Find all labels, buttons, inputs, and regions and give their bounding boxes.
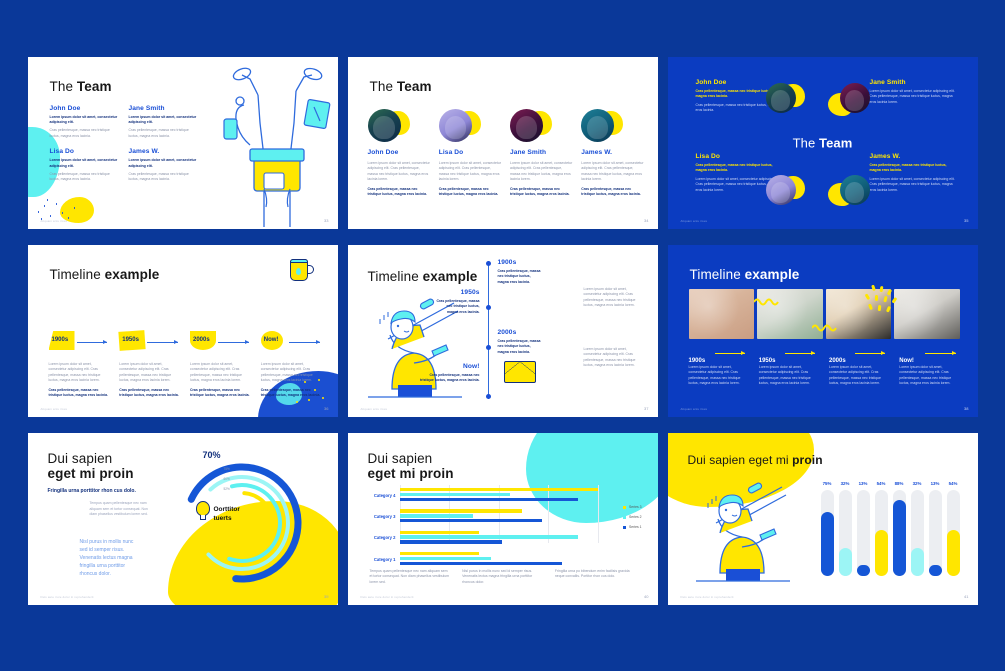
timeline-year: 1950s [759,358,776,364]
legend-swatch [623,506,626,509]
slide-title: Dui sapieneget mi proin [48,451,134,481]
timeline-step: 1950s Lorem ipsum dolor sit amet, consec… [119,331,180,399]
legend-item: Series 2 [623,515,641,519]
timeline-marker: Now! [899,349,959,359]
timeline-step: Now! Lorem ipsum dolor sit amet, consect… [261,331,322,399]
yellow-sparkle-burst-icon [864,285,900,319]
member-tagline: Cras pellentesque, massa nec tristique l… [581,187,643,198]
chart-row: Category 1 [370,552,598,566]
avatar-profile-woman-icon [840,83,870,113]
arrow-right-icon [289,342,320,343]
arrow-right-icon [925,353,955,354]
avatar [840,175,870,205]
bar-value-label: 32% [839,481,852,486]
timeline-marker: 2000s [190,331,251,355]
bar-column: 54% [947,481,960,576]
bar-column: 13% [929,481,942,576]
timeline-year: 1950s [436,289,480,296]
yellow-squiggle-icon [754,297,780,307]
step-desc: Lorem ipsum dolor sit amet, consectetur … [119,362,180,384]
member-name: John Doe [50,105,119,112]
timeline-marker: 1950s [759,349,819,359]
timeline-year: 1900s [689,358,706,364]
title-light: Dui sapien [48,451,113,466]
team-member: Jane Smith Lorem ipsum dolor sit amet, c… [129,105,198,139]
avatar-profile-woman-icon [510,109,543,142]
timeline-marker: 1900s [49,331,110,355]
member-name: Jane Smith [510,149,572,156]
slide-thumbnail-grid: The Team John Doe Lorem ipsum dolor sit … [0,0,1005,671]
member-tagline: Lorem ipsum dolor sit amet, consectetur … [129,115,198,126]
title-bold: example [423,269,478,284]
slide-timeline-columns[interactable]: Timeline example 1900s Lorem ipsum dolor… [28,245,338,417]
timeline-step: 2000s Lorem ipsum dolor sit amet, consec… [829,349,889,387]
timeline-year: 1900s [52,337,69,343]
horizontal-bar-chart: Category 4 Category 3 Category 2 [370,488,598,573]
timeline-marker: Now! [261,331,322,355]
timeline-step: 1900s Lorem ipsum dolor sit amet, consec… [49,331,110,399]
team-member: James W. Lorem ipsum dolor sit amet, con… [129,148,198,182]
member-tagline: Lorem ipsum dolor sit amet, consectetur … [50,115,119,126]
step-desc: Lorem ipsum dolor sit amet, consectetur … [689,365,749,387]
timeline-year: 2000s [498,329,542,336]
slide-title: The Team [370,79,432,94]
bar-fill [911,548,924,576]
slide-title: The Team [793,136,853,151]
team-member: Jane Smith Lorem ipsum dolor sit amet, c… [510,109,572,198]
timeline-step: Now! Lorem ipsum dolor sit amet, consect… [899,349,959,387]
team-member: James W. Cras pellentesque, massa nec tr… [870,153,956,193]
bar-fill [875,530,888,576]
slide-footer: Aliquam arcu risus [41,219,68,223]
avatar-hat-man-icon [581,109,614,142]
title-light: The [370,79,397,94]
page-number: 34 [644,218,648,223]
center-label-line2: tuerts [214,514,240,523]
avatar [581,109,614,142]
team-member-grid: John Doe Lorem ipsum dolor sit amet, con… [50,105,198,182]
ring-label: 60% [224,477,230,481]
slide-subtitle: Fringilla urna porttitor rhon cus dolo. [48,488,136,494]
legend-label: Series 3 [629,505,641,509]
arrow-right-icon [77,342,108,343]
timeline-step: 2000s Cras pellentesque, massa nec trist… [498,329,542,355]
avatar [766,83,796,113]
bar-series-2 [400,514,473,517]
avatar-short-hair-woman-icon [439,109,472,142]
member-tagline: Lorem ipsum dolor sit amet, consectetur … [50,158,119,169]
team-member: James W. Lorem ipsum dolor sit amet, con… [581,109,643,198]
bar-series-3 [400,531,479,534]
avatar-short-hair-woman-icon [766,175,796,205]
arrow-right-icon [218,342,249,343]
member-desc: Cras pellentesque, massa nec tristique l… [129,172,198,183]
step-tagline: Cras pellentesque, massa nec tristique l… [49,388,110,399]
timeline-marker: 2000s [829,349,889,359]
step-desc: Lorem ipsum dolor sit amet, consectetur … [829,365,889,387]
avatar-hat-man-icon [840,175,870,205]
step-tagline: Cras pellentesque, massa nec tristique l… [436,299,480,315]
bar-track [947,490,960,576]
photo-hands-drawing [689,289,755,339]
title-bold: eget mi proin [48,466,134,481]
member-tagline: Cras pellentesque, massa nec tristique l… [510,187,572,198]
category-label: Category 2 [370,535,400,540]
slide-team-text[interactable]: The Team John Doe Lorem ipsum dolor sit … [28,57,338,229]
chart-notes: Tempus quam pellentesque nec nam aliquam… [370,569,636,585]
title-light: Dui sapien [368,451,433,466]
member-desc: Lorem ipsum dolor sit amet, consectetur … [870,177,956,193]
bar-group [400,488,598,502]
handstand-illustration [220,61,332,227]
avatar [510,109,543,142]
title-bold: Team [397,79,432,94]
step-tagline: Cras pellentesque, massa nec tristique l… [119,388,180,399]
category-label: Category 1 [370,557,400,562]
lightbulb-icon [196,501,210,521]
title-light: Timeline [690,267,745,282]
slide-footer: Aliquam arcu risus [681,219,708,223]
bar-series-1 [400,540,503,543]
bar-track [821,490,834,576]
member-name: Lisa Do [696,153,782,160]
member-name: Jane Smith [870,79,956,86]
timeline-step: 1900s Cras pellentesque, massa nec trist… [498,259,542,285]
step-desc: Lorem ipsum dolor sit amet, consectetur … [759,365,819,387]
bar-column: 32% [839,481,852,576]
member-name: Lisa Do [439,149,501,156]
title-bold: Team [77,79,112,94]
page-number: 35 [964,218,968,223]
slide-title: Timeline example [50,267,160,282]
step-desc: Lorem ipsum dolor sit amet, consectetur … [899,365,959,387]
timeline-year: 1900s [498,259,542,266]
envelope-icon [504,361,536,383]
arrow-right-icon [785,353,815,354]
slide-team-dark[interactable]: The Team John Doe Cras pellentesque, mas… [668,57,978,229]
note-paragraph: Nisl purus in mollis nunc sed id semper … [462,569,543,585]
chart-legend: Series 3 Series 2 Series 1 [623,505,641,535]
member-name: James W. [581,149,643,156]
bar-fill [821,512,834,577]
step-tagline: Cras pellentesque, massa nec tristique l… [190,388,251,399]
team-member: John Doe Lorem ipsum dolor sit amet, con… [50,105,119,139]
page-number: 37 [644,406,648,411]
bar-column: 13% [857,481,870,576]
title-light: The [50,79,77,94]
slide-bar-chart-vertical[interactable]: Dui sapien eget mi proin 75% [668,433,978,605]
bar-track [857,490,870,576]
slide-title: Timeline example [368,269,478,284]
page-number: 41 [964,594,968,599]
member-desc: Cras pellentesque, massa nec tristique l… [50,172,119,183]
bar-fill [857,565,870,576]
page-number: 33 [324,218,328,223]
slide-footer: Aliquam arcu risus [361,407,388,411]
slide-title: Dui sapieneget mi proin [368,451,454,481]
chart-row: Category 2 [370,531,598,545]
note-paragraph: Tempus quam pellentesque nec nam aliquam… [370,569,451,585]
bar-track [929,490,942,576]
member-desc: Lorem ipsum dolor sit amet, consectetur … [870,89,956,105]
step-desc: Lorem ipsum dolor sit amet, consectetur … [190,362,251,384]
title-light: Timeline [368,269,423,284]
bar-group [400,552,598,566]
pointing-man-illustration [690,477,798,585]
member-desc: Cras pellentesque, massa nec tristique l… [129,128,198,139]
bar-track [839,490,852,576]
bar-series-2 [400,557,491,560]
side-note: Lorem ipsum dolor sit amet, consectetur … [584,287,644,309]
team-member: Lisa Do Lorem ipsum dolor sit amet, cons… [439,109,501,198]
slide-footer: Aliquam arcu risus [681,407,708,411]
slide-timeline-photos[interactable]: Timeline example [668,245,978,417]
step-tagline: Cras pellentesque, massa nec tristique l… [418,373,480,384]
page-number: 39 [324,594,328,599]
legend-item: Series 3 [623,505,641,509]
member-name: Lisa Do [50,148,119,155]
bar-fill [947,530,960,576]
mug-icon [288,257,314,283]
timeline-year: 2000s [829,358,846,364]
bar-value-label: 54% [947,481,960,486]
bar-value-label: 75% [821,481,834,486]
team-member: Lisa Do Lorem ipsum dolor sit amet, cons… [50,148,119,182]
timeline-step: 1950s Lorem ipsum dolor sit amet, consec… [759,349,819,387]
bar-track [893,490,906,576]
member-tagline: Lorem ipsum dolor sit amet, consectetur … [129,158,198,169]
radial-center-label: Oorttitor tuerts [214,505,240,524]
timeline-step-grid: 1900s Lorem ipsum dolor sit amet, consec… [689,349,960,387]
timeline-year: 1950s [122,337,139,343]
page-number: 36 [324,406,328,411]
photo-desk-lamp [894,289,960,339]
avatar-bearded-man-icon [766,83,796,113]
timeline-step: Now! Cras pellentesque, massa nec tristi… [418,363,480,384]
bar-series-2 [400,535,578,538]
bar-series-3 [400,552,479,555]
bar-column: 54% [875,481,888,576]
title-bold: eget mi proin [368,466,454,481]
team-avatar-row: John Doe Lorem ipsum dolor sit amet, con… [368,109,644,198]
radial-progress-chart [156,449,328,589]
avatar-bearded-man-icon [368,109,401,142]
member-name: James W. [129,148,198,155]
center-label-line1: Oorttitor [214,505,240,514]
member-desc: Lorem ipsum dolor sit amet, consectetur … [581,161,643,183]
bar-column: 32% [911,481,924,576]
step-desc: Lorem ipsum dolor sit amet, consectetur … [49,362,110,384]
bar-value-label: 88% [893,481,906,486]
avatar [368,109,401,142]
arrow-right-icon [147,342,178,343]
timeline-axis [488,261,489,399]
timeline-year: Now! [418,363,480,370]
yellow-squiggle-icon [812,323,838,333]
step-tagline: Cras pellentesque, massa nec tristique l… [498,269,542,285]
member-name: John Doe [368,149,430,156]
avatar [840,83,870,113]
member-tagline: Cras pellentesque, massa nec tristique l… [696,163,782,174]
bar-series-3 [400,488,598,491]
category-label: Category 4 [370,493,400,498]
bar-column: 88% [893,481,906,576]
title-light: Timeline [50,267,105,282]
slide-team-avatars[interactable]: The Team John Doe Lorem ipsum dolor sit … [348,57,658,229]
arrow-right-icon [715,353,745,354]
page-number: 38 [964,406,968,411]
body-paragraph: Nisl purus in mollis nunc sed id semper … [80,538,134,578]
slide-bar-chart-horizontal[interactable]: Dui sapieneget mi proin Category 4 Categ… [348,433,658,605]
slide-footer: Duis aute irure dolor in reprehenderit [361,595,414,599]
timeline-year: 2000s [193,337,210,343]
legend-item: Series 1 [623,525,641,529]
slide-footer: Duis aute irure dolor in reprehenderit [681,595,734,599]
team-member: Jane Smith Lorem ipsum dolor sit amet, c… [870,79,956,105]
title-bold: Team [819,136,852,151]
bar-track [875,490,888,576]
slide-title: The Team [50,79,112,94]
legend-label: Series 1 [629,525,641,529]
chart-row: Category 3 [370,509,598,523]
chart-row: Category 4 [370,488,598,502]
timeline-step: 2000s Lorem ipsum dolor sit amet, consec… [190,331,251,399]
timeline-step: 1900s Lorem ipsum dolor sit amet, consec… [689,349,749,387]
category-label: Category 3 [370,514,400,519]
legend-swatch [623,516,626,519]
bar-series-1 [400,562,562,565]
bar-fill [839,548,852,576]
bar-fill [893,500,906,576]
member-desc: Lorem ipsum dolor sit amet, consectetur … [510,161,572,183]
member-desc: Lorem ipsum dolor sit amet, consectetur … [368,161,430,183]
step-tagline: Cras pellentesque, massa nec tristique l… [261,388,322,399]
bar-value-label: 32% [911,481,924,486]
timeline-marker: 1950s [119,331,180,355]
bar-series-1 [400,498,578,501]
bar-value-label: 13% [857,481,870,486]
slide-radial-chart[interactable]: Dui sapieneget mi proin Fringilla urna p… [28,433,338,605]
timeline-year: Now! [899,358,914,364]
timeline-year: Now! [264,337,279,343]
bar-fill [929,565,942,576]
member-tagline: Cras pellentesque, massa nec tristique l… [368,187,430,198]
vertical-bar-chart: 75% 32% 13% 54% 88% 32% [821,481,960,576]
bar-value-label: 54% [875,481,888,486]
step-desc: Lorem ipsum dolor sit amet, consectetur … [261,362,322,384]
radial-headline-value: 70% [203,450,221,460]
avatar [766,175,796,205]
title-bold: proin [792,453,823,467]
page-number: 40 [644,594,648,599]
title-light: Dui sapien eget mi [688,453,793,467]
member-desc: Lorem ipsum dolor sit amet, consectetur … [439,161,501,183]
member-name: James W. [870,153,956,160]
timeline-marker: 1900s [689,349,749,359]
arrow-right-icon [855,353,885,354]
bar-track [911,490,924,576]
slide-title: Timeline example [690,267,800,282]
timeline-step-grid: 1900s Lorem ipsum dolor sit amet, consec… [49,331,322,399]
bar-group [400,509,598,523]
slide-footer: Duis aute irure dolor in reprehenderit [41,595,94,599]
slide-title: Dui sapien eget mi proin [688,453,823,467]
bar-series-2 [400,493,511,496]
avatar [439,109,472,142]
legend-label: Series 2 [629,515,641,519]
title-bold: example [105,267,160,282]
title-light: The [793,136,819,151]
ring-label: 75% [224,467,230,471]
legend-swatch [623,526,626,529]
member-tagline: Cras pellentesque, massa nec tristique l… [870,163,956,174]
bar-value-label: 13% [929,481,942,486]
ring-label: 52% [224,487,230,491]
body-paragraph: Tempus quam pellentesque nec nam aliquam… [90,501,154,518]
timeline-step: 1950s Cras pellentesque, massa nec trist… [436,289,480,315]
side-note: Lorem ipsum dolor sit amet, consectetur … [584,347,644,369]
bar-group [400,531,598,545]
title-bold: example [745,267,800,282]
note-paragraph: Fringilla urna po bibendum enim facilisi… [555,569,636,585]
team-member: John Doe Lorem ipsum dolor sit amet, con… [368,109,430,198]
step-tagline: Cras pellentesque, massa nec tristique l… [498,339,542,355]
member-name: Jane Smith [129,105,198,112]
bar-series-1 [400,519,543,522]
bar-column: 75% [821,481,834,576]
bar-series-3 [400,509,523,512]
slide-footer: Aliquam arcu risus [41,407,68,411]
slide-timeline-vertical[interactable]: Timeline example 1900s Cras pellen [348,245,658,417]
member-desc: Cras pellentesque, massa nec tristique l… [50,128,119,139]
member-tagline: Cras pellentesque, massa nec tristique l… [439,187,501,198]
